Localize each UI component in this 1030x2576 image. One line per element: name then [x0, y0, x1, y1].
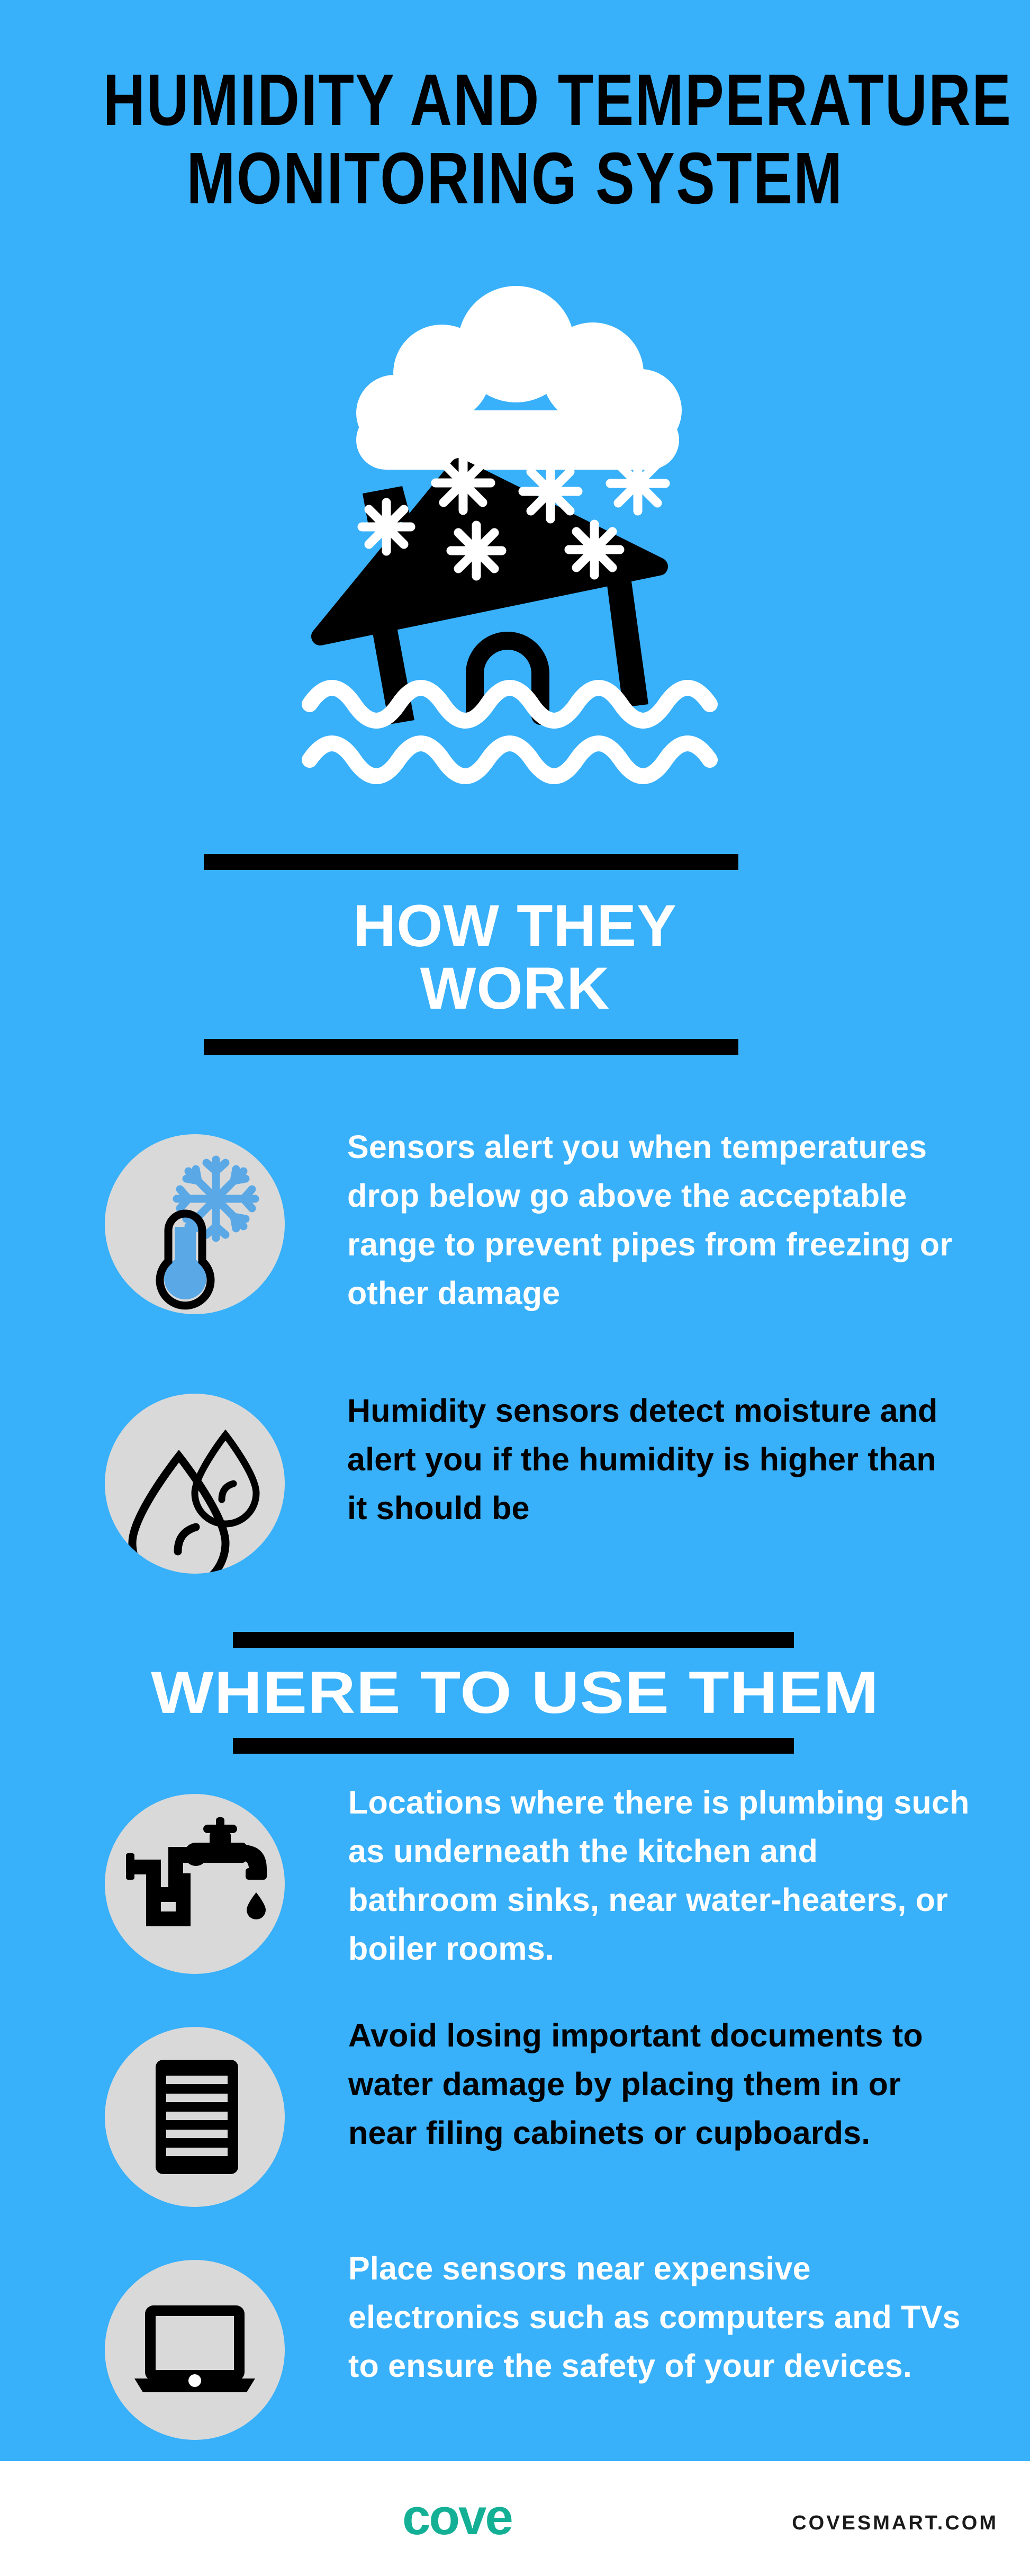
cloud-icon [356, 286, 682, 470]
laptop-hinge-dot [188, 2374, 201, 2387]
thermometer-snowflake-icon [105, 1134, 285, 1314]
page-title: HUMIDITY AND TEMPERATURE MONITORING SYST… [0, 61, 1030, 218]
rule-above-where-to-use [233, 1632, 794, 1648]
heading-how-line-2: WORK [0, 957, 1030, 1020]
heading-where-line-1: WHERE TO USE THEM [151, 1659, 879, 1726]
heading-how-line-1: HOW THEY [0, 895, 1030, 957]
bullet-temperature-sensors: Sensors alert you when temperatures drop… [105, 1134, 952, 1346]
bullet-text-electronics: Place sensors near expensive electronics… [348, 2244, 973, 2390]
large-droplet [132, 1456, 225, 1574]
snowflake-glyph [177, 1160, 255, 1238]
hero-illustration [288, 281, 744, 805]
laptop-icon [105, 2260, 285, 2440]
bullet-electronics: Place sensors near expensive electronics… [105, 2260, 978, 2445]
footer: cove COVESMART.COM [0, 2461, 1030, 2576]
laptop-screen [156, 2316, 234, 2370]
cove-logo[interactable]: cove [402, 2492, 512, 2543]
rule-below-how-they-work [204, 1039, 738, 1055]
faucet-drip-icon [105, 1794, 285, 1974]
rule-above-how-they-work [204, 854, 738, 870]
water-waves-icon [310, 688, 710, 776]
bullet-documents: Avoid losing important documents to wate… [105, 2027, 978, 2212]
small-droplet [195, 1435, 256, 1524]
bullet-text-plumbing: Locations where there is plumbing such a… [348, 1778, 973, 1973]
covesmart-url[interactable]: COVESMART.COM [792, 2513, 998, 2533]
infographic-page: HUMIDITY AND TEMPERATURE MONITORING SYST… [0, 0, 1030, 2576]
bullet-humidity-sensors: Humidity sensors detect moisture and ale… [105, 1394, 952, 1584]
title-line-2: MONITORING SYSTEM [103, 139, 927, 218]
document-icon [105, 2027, 285, 2207]
bullet-plumbing-locations: Locations where there is plumbing such a… [105, 1794, 978, 1979]
water-droplets-icon [105, 1394, 285, 1574]
title-line-1: HUMIDITY AND TEMPERATURE [103, 61, 927, 139]
bullet-text-documents: Avoid losing important documents to wate… [348, 2011, 973, 2157]
bullet-text-humidity: Humidity sensors detect moisture and ale… [347, 1386, 956, 1532]
bullet-text-temperature: Sensors alert you when temperatures drop… [347, 1123, 956, 1317]
faucet-glyph [126, 1817, 267, 1926]
section-heading-how-they-work: HOW THEY WORK [0, 895, 1030, 1020]
section-heading-where-to-use: WHERE TO USE THEM [0, 1662, 1030, 1724]
rule-below-where-to-use [233, 1738, 794, 1754]
